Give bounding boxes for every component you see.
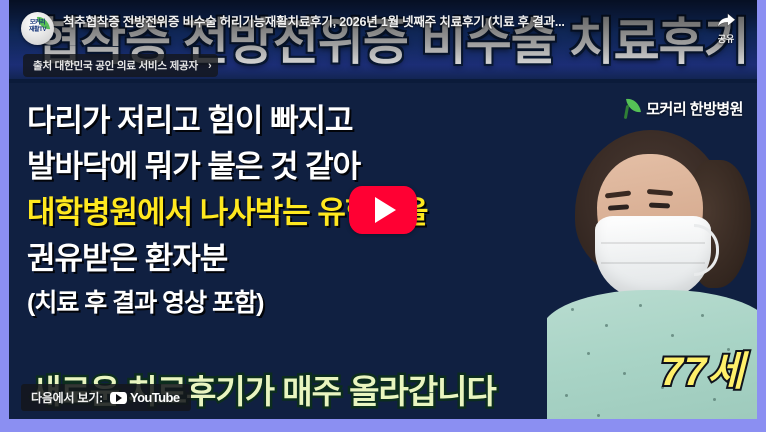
youtube-logo: YouTube [110,390,179,405]
thumbnail-copy-line-highlight: 대학병원에서 나사박는 유합술을 [27,190,607,236]
hospital-brand-lockup: 모커리 한방병원 [623,98,743,119]
age-badge: 77세 [661,339,745,397]
watch-on-label: 다음에서 보기: [31,389,103,406]
video-title[interactable]: 척추협착증 전방전위증 비수술 허리기능재활치료후기, 2026년 1월 넷째주… [63,9,705,30]
avatar-label: 모커리재활TV [21,20,54,33]
youtube-wordmark: YouTube [130,390,179,405]
player-header: 모커리재활TV 척추협착증 전방전위증 비수술 허리기능재활치료후기, 2026… [9,0,757,54]
channel-avatar[interactable]: 모커리재활TV [21,12,54,45]
share-arrow-icon [715,11,737,31]
green-leaf-icon [623,98,640,119]
source-chip-label: 출처 대한민국 공인 의료 서비스 제공자 [33,58,198,73]
frame-rail-right [757,0,766,432]
frame-rail-left [0,0,9,432]
thumbnail-copy-line: 권유받은 환자분 [27,236,607,282]
share-label: 공유 [718,32,735,45]
share-button[interactable]: 공유 [705,9,747,45]
thumbnail-copy-line: 다리가 저리고 힘이 빠지고 [27,98,607,144]
thumbnail-copy-block: 다리가 저리고 힘이 빠지고 발바닥에 뭐가 붙은 것 같아 대학병원에서 나사… [27,98,607,324]
youtube-embed-player[interactable]: 협착증 전방전위증 비수술 치료후기 모커리 한방병원 [0,0,766,432]
thumbnail-copy-note: (치료 후 결과 영상 포함) [27,282,607,324]
chevron-right-icon: › [208,60,211,72]
watch-on-youtube-button[interactable]: 다음에서 보기: YouTube [21,384,191,411]
photo-eye-right [649,202,670,208]
source-attribution-chip[interactable]: 출처 대한민국 공인 의료 서비스 제공자 › [23,54,218,77]
play-triangle-icon [375,197,396,223]
hospital-brand-name: 모커리 한방병원 [646,98,743,119]
frame-rail-bottom [0,419,766,432]
play-button[interactable] [349,186,417,234]
video-surface[interactable]: 협착증 전방전위증 비수술 치료후기 모커리 한방병원 [9,0,757,419]
thumbnail-copy-line: 발바닥에 뭐가 붙은 것 같아 [27,144,607,190]
youtube-play-icon [110,392,127,404]
